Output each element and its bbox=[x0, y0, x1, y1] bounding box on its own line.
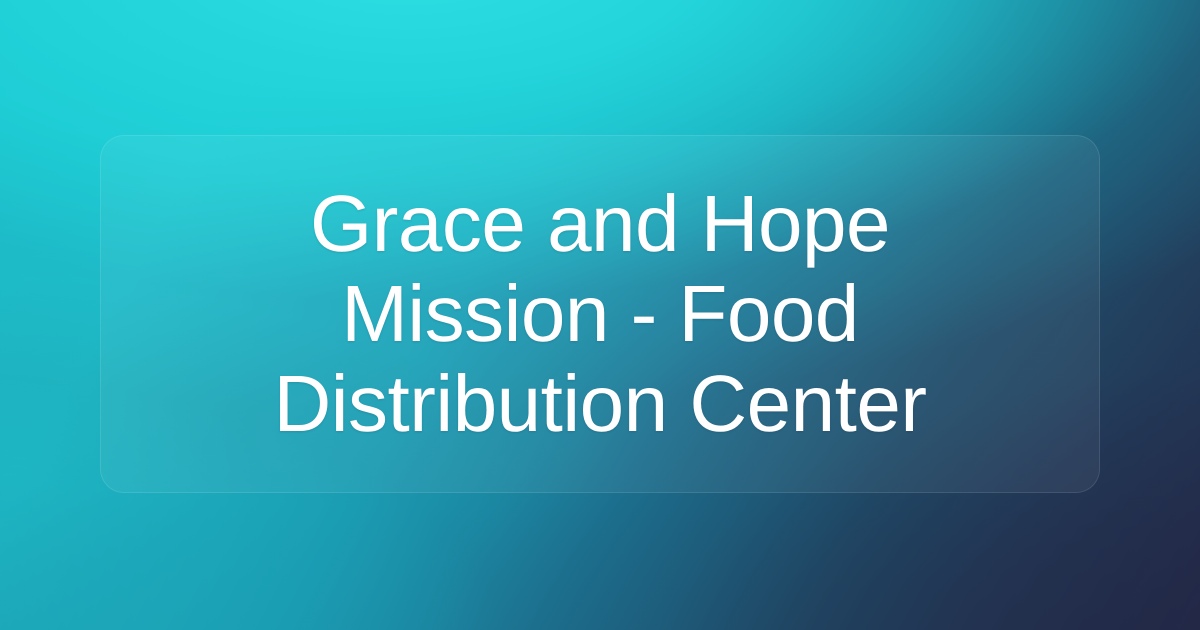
title-card: Grace and Hope Mission - Food Distributi… bbox=[100, 135, 1100, 493]
og-canvas: Grace and Hope Mission - Food Distributi… bbox=[0, 0, 1200, 630]
page-title: Grace and Hope Mission - Food Distributi… bbox=[145, 179, 1055, 449]
title-card-content: Grace and Hope Mission - Food Distributi… bbox=[101, 179, 1099, 449]
